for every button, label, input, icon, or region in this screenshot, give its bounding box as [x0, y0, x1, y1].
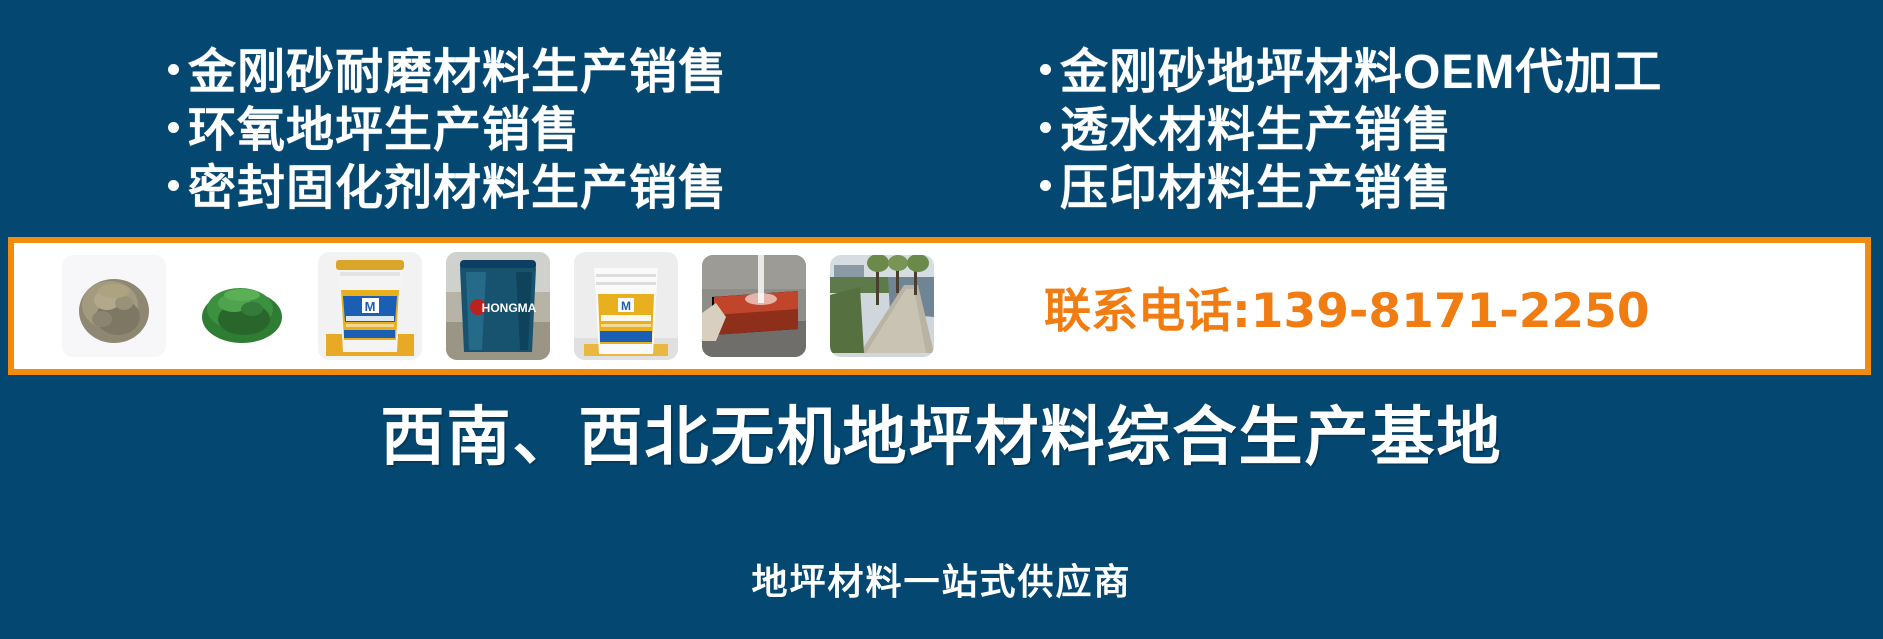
service-item-2: 环氧地坪生产销售: [168, 96, 727, 154]
bullet-dot-icon: [1040, 180, 1051, 191]
contact-phone[interactable]: 联系电话:139-8171-2250: [1044, 272, 1650, 341]
svg-text:M: M: [621, 299, 631, 313]
bullet-dot-icon: [168, 64, 179, 75]
epoxy-floor-coating-bucket-photo: M: [574, 252, 678, 360]
bullet-dot-icon: [1040, 64, 1051, 75]
promotional-banner: 金刚砂耐磨材料生产销售 环氧地坪生产销售 密封固化剂材料生产销售 金刚砂地坪材料…: [0, 0, 1883, 639]
page-subtitle: 地坪材料一站式供应商: [0, 553, 1883, 605]
green-aggregate-powder-photo: [190, 255, 294, 357]
permeable-concrete-block-photo: [702, 255, 806, 357]
hongma-blue-drum-photo: HONGMA: [446, 252, 550, 360]
service-item-1: 金刚砂耐磨材料生产销售: [168, 38, 727, 96]
page-title: 西南、西北无机地坪材料综合生产基地: [0, 386, 1883, 478]
gray-aggregate-powder-photo: [62, 255, 166, 357]
service-item-3: 密封固化剂材料生产销售: [168, 154, 727, 212]
bullet-dot-icon: [168, 180, 179, 191]
svg-text:HONGMA: HONGMA: [482, 301, 537, 315]
services-left-column: 金刚砂耐磨材料生产销售 环氧地坪生产销售 密封固化剂材料生产销售: [168, 38, 727, 212]
svg-text:M: M: [365, 299, 376, 314]
product-thumbnail-list: M HONGMA: [62, 243, 934, 369]
service-item-4: 金刚砂地坪材料OEM代加工: [1040, 38, 1662, 96]
bullet-dot-icon: [168, 122, 179, 133]
stamped-concrete-path-photo: [830, 255, 934, 357]
services-section: 金刚砂耐磨材料生产销售 环氧地坪生产销售 密封固化剂材料生产销售 金刚砂地坪材料…: [0, 38, 1883, 228]
bullet-dot-icon: [1040, 122, 1051, 133]
concrete-sealer-bucket-photo: M: [318, 252, 422, 360]
service-label: 压印材料生产销售: [1060, 148, 1452, 218]
services-right-column: 金刚砂地坪材料OEM代加工 透水材料生产销售 压印材料生产销售: [1040, 38, 1662, 212]
service-item-5: 透水材料生产销售: [1040, 96, 1662, 154]
product-strip: M HONGMA: [8, 237, 1871, 375]
service-label: 密封固化剂材料生产销售: [188, 148, 727, 218]
service-item-6: 压印材料生产销售: [1040, 154, 1662, 212]
